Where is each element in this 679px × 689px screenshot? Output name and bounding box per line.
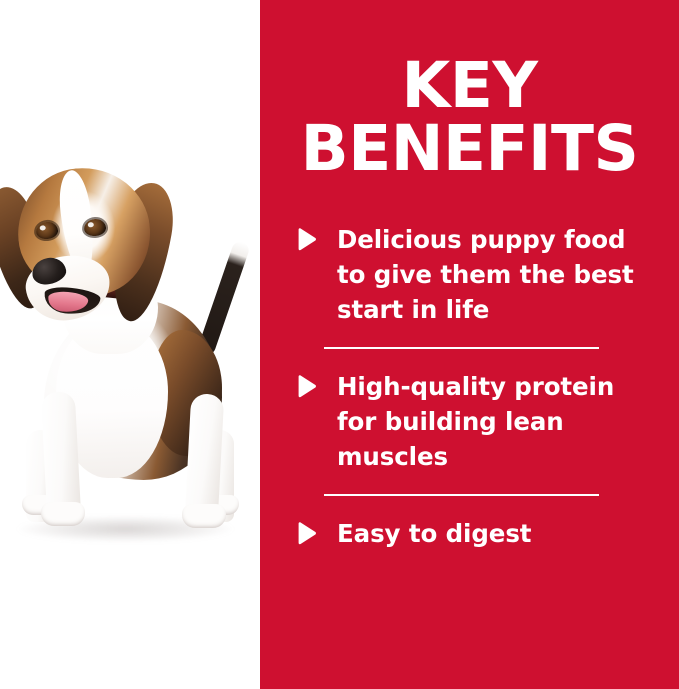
dog-front-leg-right	[185, 393, 225, 521]
triangle-right-icon	[296, 522, 317, 545]
beagle-puppy-illustration	[0, 0, 260, 689]
benefit-text: Delicious puppy food to give them the be…	[337, 222, 637, 327]
page-title: KEY BENEFITS	[260, 54, 679, 180]
benefit-text: Easy to digest	[337, 516, 531, 551]
list-item: High-quality protein for building lean m…	[296, 369, 679, 474]
benefit-divider	[324, 347, 599, 349]
list-item: Easy to digest	[296, 516, 679, 551]
product-photo-panel	[0, 0, 260, 689]
dog-front-paw-right	[182, 504, 226, 528]
dog-front-paw-left	[41, 502, 85, 526]
benefit-divider	[324, 494, 599, 496]
photo-stage	[0, 0, 260, 689]
benefit-text: High-quality protein for building lean m…	[337, 369, 637, 474]
list-item: Delicious puppy food to give them the be…	[296, 222, 679, 327]
benefits-list: Delicious puppy food to give them the be…	[296, 222, 679, 551]
triangle-right-icon	[296, 228, 317, 251]
key-benefits-panel: KEY BENEFITS Delicious puppy food to giv…	[260, 0, 679, 689]
product-feature-banner: KEY BENEFITS Delicious puppy food to giv…	[0, 0, 679, 689]
triangle-right-icon	[296, 375, 317, 398]
